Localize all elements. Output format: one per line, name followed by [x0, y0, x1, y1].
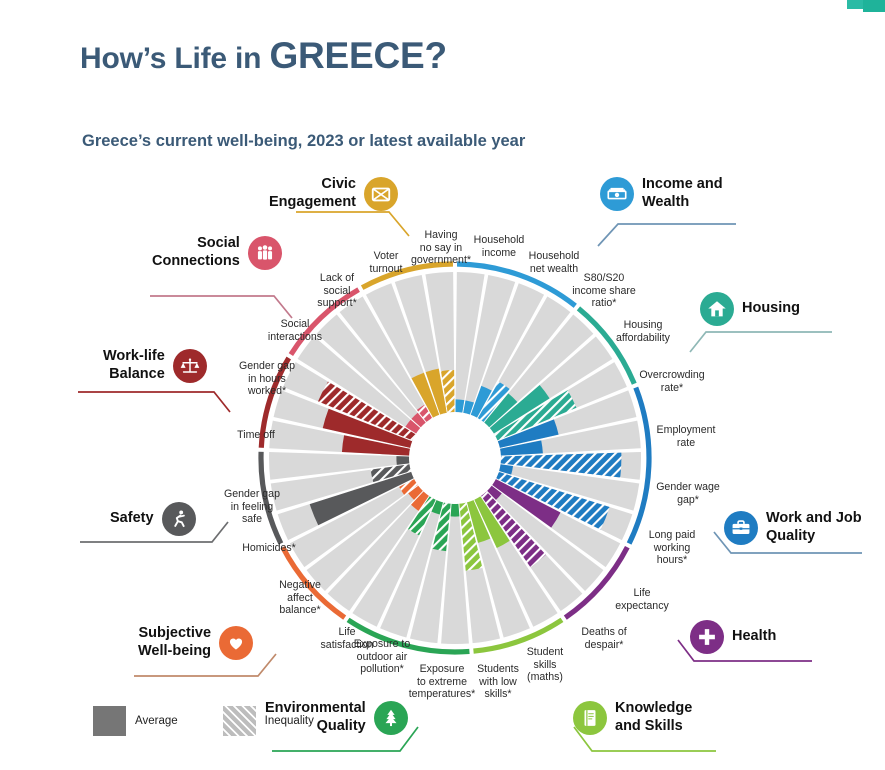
indicator-label: Gender gap in hours worked*	[207, 360, 327, 398]
indicator-label: Overcrowding rate*	[612, 369, 732, 394]
indicator-label: Social interactions	[235, 318, 355, 343]
domain-callout-work[interactable]: Work and Job Quality	[724, 510, 862, 545]
legend-label-inequality: Inequality	[265, 715, 314, 727]
indicator-label: Having no say in government*	[381, 229, 501, 267]
chart-legend: Average Inequality	[93, 706, 314, 736]
indicator-label: Homicides*	[209, 542, 329, 555]
indicator-label: Lack of social support*	[277, 272, 397, 310]
domain-callout-safety[interactable]: Safety	[110, 502, 196, 536]
indicator-label: Time off	[196, 429, 316, 442]
domain-callout-worklife[interactable]: Work-life Balance	[103, 348, 207, 383]
domain-label-social: Social Connections	[152, 235, 240, 270]
indicator-label: Negative affect balance*	[240, 579, 360, 617]
domain-callout-health[interactable]: Health	[690, 620, 776, 654]
medical-cross-icon	[690, 620, 724, 654]
indicator-label: Long paid working hours*	[612, 529, 732, 567]
average-bar	[396, 456, 409, 465]
page-title-country: GREECE?	[269, 35, 446, 76]
domain-label-income: Income and Wealth	[642, 176, 723, 211]
domain-label-swb: Subjective Well-being	[138, 625, 211, 660]
domain-callout-knowledge[interactable]: Knowledge and Skills	[573, 700, 692, 735]
indicator-label: Housing affordability	[583, 319, 703, 344]
legend-item-average: Average	[93, 706, 178, 736]
average-bar	[455, 399, 464, 412]
money-icon	[600, 177, 634, 211]
domain-label-work: Work and Job Quality	[766, 510, 862, 545]
page-title-prefix: How’s Life in	[80, 42, 269, 75]
legend-item-inequality: Inequality	[223, 706, 314, 736]
scales-icon	[173, 349, 207, 383]
domain-label-housing: Housing	[742, 300, 800, 318]
domain-label-knowledge: Knowledge and Skills	[615, 700, 692, 735]
house-icon	[700, 292, 734, 326]
ballot-box-icon	[364, 177, 398, 211]
inequality-swatch-icon	[223, 706, 256, 736]
indicator-label: Employment rate	[626, 424, 746, 449]
average-swatch-icon	[93, 706, 126, 736]
infographic-canvas: How’s Life in GREECE? Greece’s current w…	[0, 0, 885, 770]
book-icon	[573, 701, 607, 735]
legend-label-average: Average	[135, 715, 178, 727]
running-person-icon	[162, 502, 196, 536]
domain-label-worklife: Work-life Balance	[103, 348, 165, 383]
indicator-label: Life expectancy	[582, 587, 702, 612]
indicator-label: Gender gap in feeling safe	[192, 488, 312, 526]
indicator-label: S80/S20 income share ratio*	[544, 272, 664, 310]
indicator-label: Gender wage gap*	[628, 481, 748, 506]
domain-callout-housing[interactable]: Housing	[700, 292, 800, 326]
domain-callout-swb[interactable]: Subjective Well-being	[138, 625, 253, 660]
domain-label-civic: Civic Engagement	[269, 176, 356, 211]
tree-icon	[374, 701, 408, 735]
decorative-mark-secondary	[847, 0, 863, 9]
domain-callout-civic[interactable]: Civic Engagement	[269, 176, 398, 211]
indicator-label: Life satisfaction	[287, 626, 407, 651]
average-bar	[451, 504, 460, 517]
domain-label-safety: Safety	[110, 510, 154, 528]
page-subtitle: Greece’s current well-being, 2023 or lat…	[82, 132, 525, 151]
page-title: How’s Life in GREECE?	[80, 35, 447, 77]
heart-icon	[219, 626, 253, 660]
chart-center-hole	[410, 413, 500, 503]
domain-label-health: Health	[732, 628, 776, 646]
domain-callout-income[interactable]: Income and Wealth	[600, 176, 723, 211]
decorative-mark-primary	[863, 0, 885, 12]
